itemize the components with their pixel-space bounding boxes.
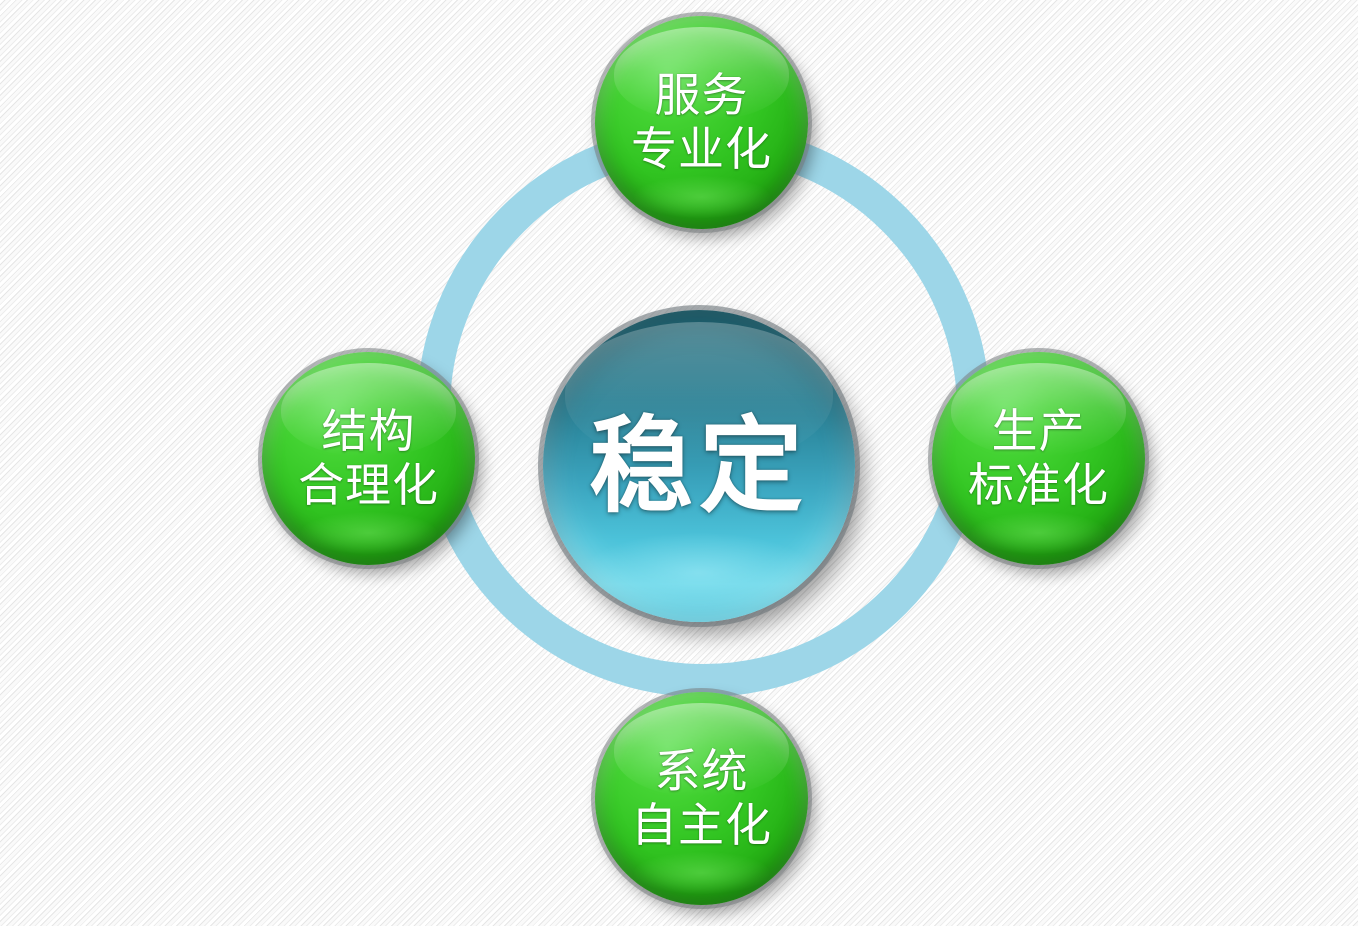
- node-top-label: 服务 专业化: [631, 69, 772, 176]
- node-left-structure-rationalization[interactable]: 结构 合理化: [262, 352, 475, 565]
- node-center-stability[interactable]: 稳定: [543, 310, 855, 622]
- node-bottom-label-line2: 自主化: [631, 799, 772, 852]
- node-bottom-label-line1: 系统: [631, 745, 772, 798]
- node-bottom-label: 系统 自主化: [631, 745, 772, 852]
- node-right-label-line1: 生产: [968, 405, 1109, 458]
- diagram-canvas: 服务 专业化 生产 标准化 系统 自主化 结构 合理化 稳定: [0, 0, 1358, 926]
- node-top-service-specialization[interactable]: 服务 专业化: [595, 16, 808, 229]
- node-left-label-line2: 合理化: [298, 459, 439, 512]
- node-right-production-standardization[interactable]: 生产 标准化: [932, 352, 1145, 565]
- node-right-label-line2: 标准化: [968, 459, 1109, 512]
- node-center-label: 稳定: [589, 406, 809, 527]
- node-right-label: 生产 标准化: [968, 405, 1109, 512]
- node-left-label-line1: 结构: [298, 405, 439, 458]
- node-top-label-line2: 专业化: [631, 123, 772, 176]
- node-bottom-system-autonomy[interactable]: 系统 自主化: [595, 692, 808, 905]
- node-left-label: 结构 合理化: [298, 405, 439, 512]
- node-top-label-line1: 服务: [631, 69, 772, 122]
